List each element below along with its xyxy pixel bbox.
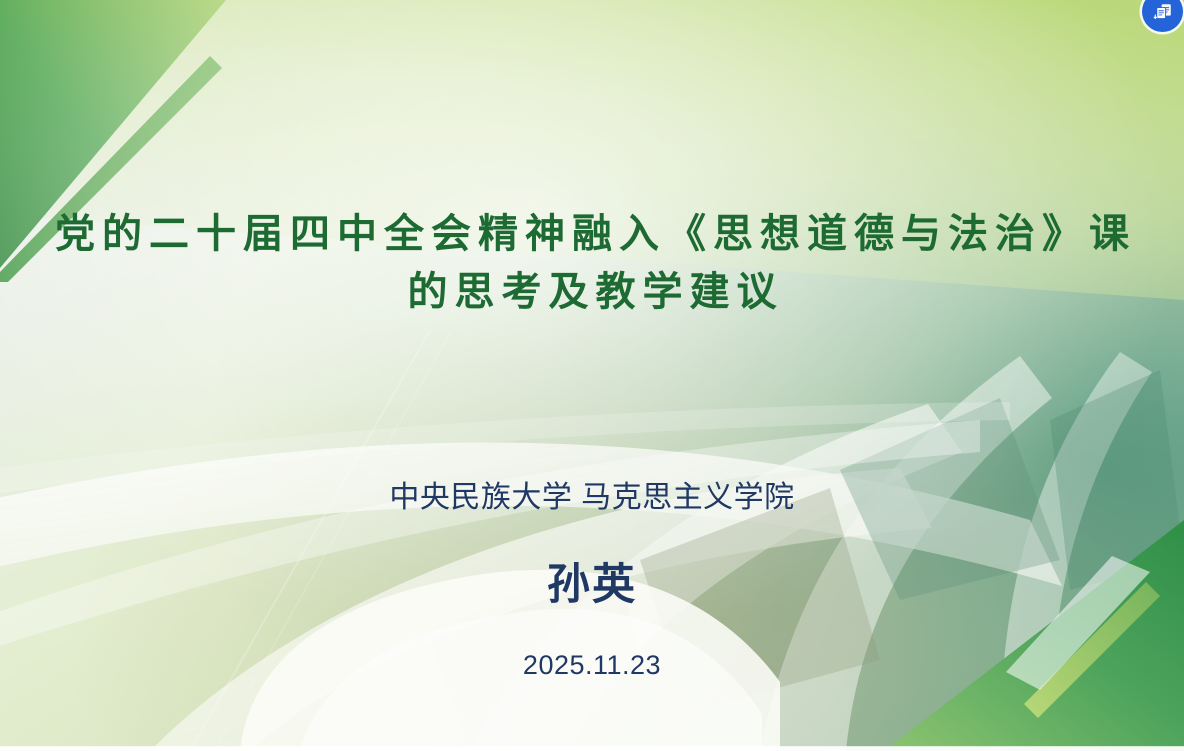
speaker-name: 孙英 bbox=[0, 557, 1184, 613]
slide-text-content: 党的二十届四中全会精神融入《思想道德与法治》课 的思考及教学建议 中央民族大学 … bbox=[0, 0, 1184, 751]
title-line-2: 的思考及教学建议 bbox=[0, 263, 1184, 321]
presentation-slide: 党的二十届四中全会精神融入《思想道德与法治》课 的思考及教学建议 中央民族大学 … bbox=[0, 0, 1184, 751]
title-line-1: 党的二十届四中全会精神融入《思想道德与法治》课 bbox=[0, 205, 1184, 263]
slide-title: 党的二十届四中全会精神融入《思想道德与法治》课 的思考及教学建议 bbox=[0, 205, 1184, 321]
document-convert-icon bbox=[1152, 1, 1174, 23]
presentation-date: 2025.11.23 bbox=[0, 648, 1184, 682]
affiliation-text: 中央民族大学 马克思主义学院 bbox=[0, 478, 1184, 518]
slide-bottom-edge bbox=[0, 747, 1184, 751]
